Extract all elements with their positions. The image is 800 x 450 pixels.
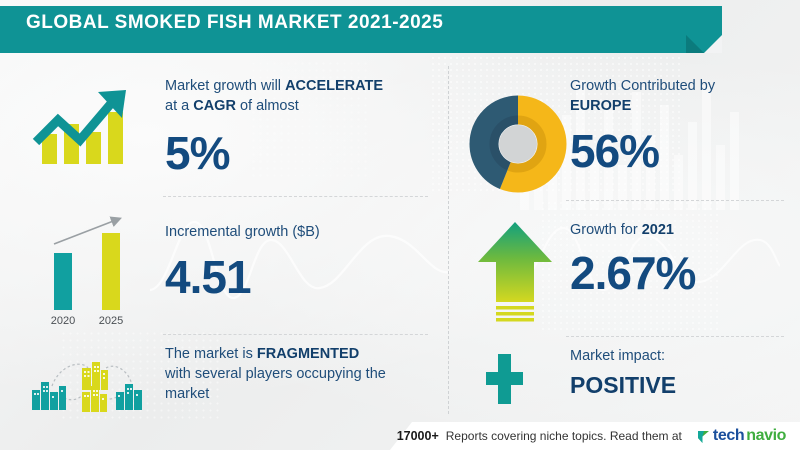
growth2021-label: Growth for 2021 — [570, 220, 795, 240]
fragmented-bold: FRAGMENTED — [257, 346, 359, 362]
fragmented-line3: market — [165, 386, 209, 402]
cagr-label: Market growth will ACCELERATE at a CAGR … — [165, 76, 435, 116]
infographic-canvas: GLOBAL SMOKED FISH MARKET 2021-2025 Mark… — [0, 0, 800, 450]
technavio-logo-navio: navio — [746, 427, 786, 445]
stat-cagr: Market growth will ACCELERATE at a CAGR … — [0, 60, 440, 195]
impact-value: POSITIVE — [570, 372, 795, 399]
stat-incremental-growth: 2020 2025 Incremental growth ($B) 4.51 — [0, 200, 440, 335]
cagr-value: 5% — [165, 130, 435, 176]
fragmented-text-block: The market is FRAGMENTED with several pl… — [165, 344, 440, 404]
impact-label: Market impact: — [570, 346, 795, 366]
cagr-label-accelerate: ACCELERATE — [285, 78, 383, 94]
footer-content: 17000+ Reports covering niche topics. Re… — [397, 427, 786, 445]
row-divider — [566, 200, 784, 201]
stat-europe-contribution: Growth Contributed by EUROPE 56% — [448, 60, 800, 200]
footer-report-count: 17000+ — [397, 429, 439, 443]
cagr-label-line1-plain: Market growth will — [165, 78, 285, 94]
row-divider — [163, 196, 428, 197]
page-title: GLOBAL SMOKED FISH MARKET 2021-2025 — [26, 12, 443, 34]
stat-market-impact: Market impact: POSITIVE — [448, 338, 800, 422]
technavio-logo[interactable]: technavio — [697, 427, 786, 445]
impact-text-block: Market impact: POSITIVE — [570, 346, 795, 399]
bar-label-2025: 2025 — [99, 315, 123, 327]
two-bar-comparison-icon: 2020 2025 — [24, 208, 149, 328]
growth-arrow-bars-icon — [28, 82, 146, 177]
technavio-flag-icon — [697, 429, 711, 444]
plus-sign-icon — [476, 350, 542, 408]
europe-text-block: Growth Contributed by EUROPE 56% — [570, 76, 795, 174]
footer-text: Reports covering niche topics. Read them… — [446, 429, 682, 443]
cagr-label-line2-plain-b: of almost — [236, 98, 299, 114]
cagr-label-line2-plain-a: at a — [165, 98, 193, 114]
incremental-text-block: Incremental growth ($B) 4.51 — [165, 222, 435, 300]
europe-label: Growth Contributed by EUROPE — [570, 76, 795, 116]
bar-label-2020: 2020 — [51, 315, 75, 327]
donut-chart-icon — [466, 92, 570, 196]
fragmented-line1-plain: The market is — [165, 346, 257, 362]
stat-fragmented: The market is FRAGMENTED with several pl… — [0, 338, 440, 428]
stat-growth-2021: Growth for 2021 2.67% — [448, 202, 800, 334]
cagr-text-block: Market growth will ACCELERATE at a CAGR … — [165, 76, 435, 176]
banner-fold-shadow — [686, 35, 704, 53]
growth2021-value: 2.67% — [570, 250, 795, 296]
cagr-label-cagr: CAGR — [193, 98, 236, 114]
banner-fold-corner — [704, 35, 722, 53]
technavio-logo-tech: tech — [713, 427, 744, 445]
growth2021-label-year: 2021 — [642, 222, 674, 238]
growth2021-text-block: Growth for 2021 2.67% — [570, 220, 795, 296]
incremental-value: 4.51 — [165, 254, 435, 300]
growth2021-label-plain: Growth for — [570, 222, 642, 238]
fragmented-line2: with several players occupying the — [165, 366, 386, 382]
europe-label-bold: EUROPE — [570, 98, 631, 114]
city-buildings-network-icon — [26, 348, 150, 416]
europe-label-plain: Growth Contributed by — [570, 78, 715, 94]
incremental-label: Incremental growth ($B) — [165, 222, 435, 242]
europe-value: 56% — [570, 128, 795, 174]
up-arrow-gradient-icon — [472, 218, 558, 326]
row-divider — [566, 336, 784, 337]
fragmented-label: The market is FRAGMENTED with several pl… — [165, 344, 440, 404]
